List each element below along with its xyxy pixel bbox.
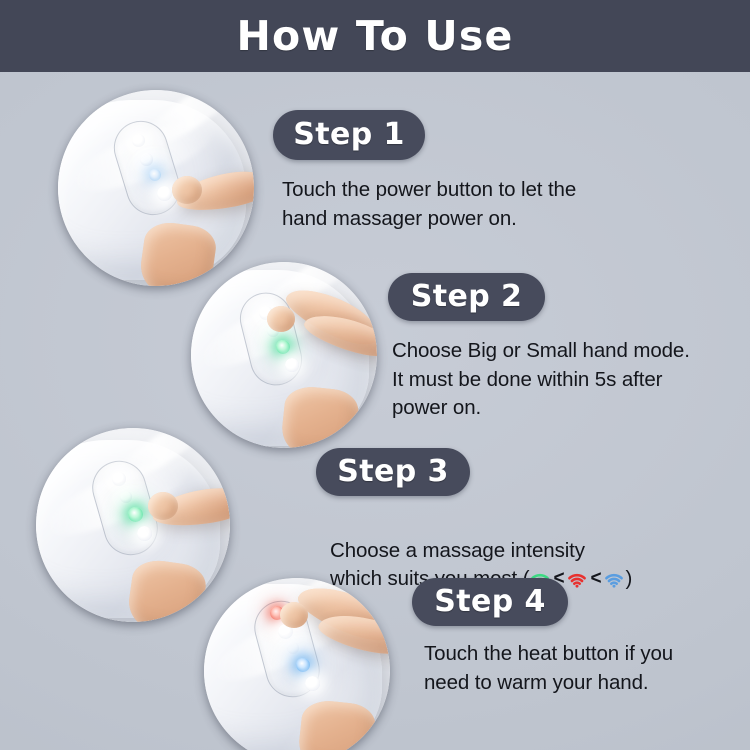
step-4-badge: Step 4 (412, 578, 568, 626)
step-1-badge-label: Step 1 (293, 120, 405, 150)
signal-icon-high (604, 568, 624, 597)
step-1-text: Touch the power button to let the hand m… (282, 176, 652, 233)
page-title: How To Use (236, 16, 513, 57)
step-4-badge-label: Step 4 (434, 587, 546, 617)
less-than-separator-2: < (588, 565, 603, 594)
step-1-badge: Step 1 (273, 110, 425, 160)
signal-icon-medium (567, 568, 587, 597)
step-3-badge: Step 3 (316, 448, 470, 496)
step-3-photo (36, 428, 230, 622)
step-2-text: Choose Big or Small hand mode. It must b… (392, 337, 742, 423)
step-3-badge-label: Step 3 (337, 457, 449, 487)
step-4-text: Touch the heat button if you need to war… (424, 640, 750, 697)
step-3-text-after: ) (625, 567, 632, 590)
step-1-photo (58, 90, 254, 286)
step-2-badge-label: Step 2 (411, 282, 523, 312)
step-4-photo (204, 578, 390, 750)
step-2-badge: Step 2 (388, 273, 545, 321)
step-2-photo (191, 262, 377, 448)
header-bar: How To Use (0, 0, 750, 72)
infographic-page: How To Use Step 1 Touch the power button… (0, 0, 750, 750)
